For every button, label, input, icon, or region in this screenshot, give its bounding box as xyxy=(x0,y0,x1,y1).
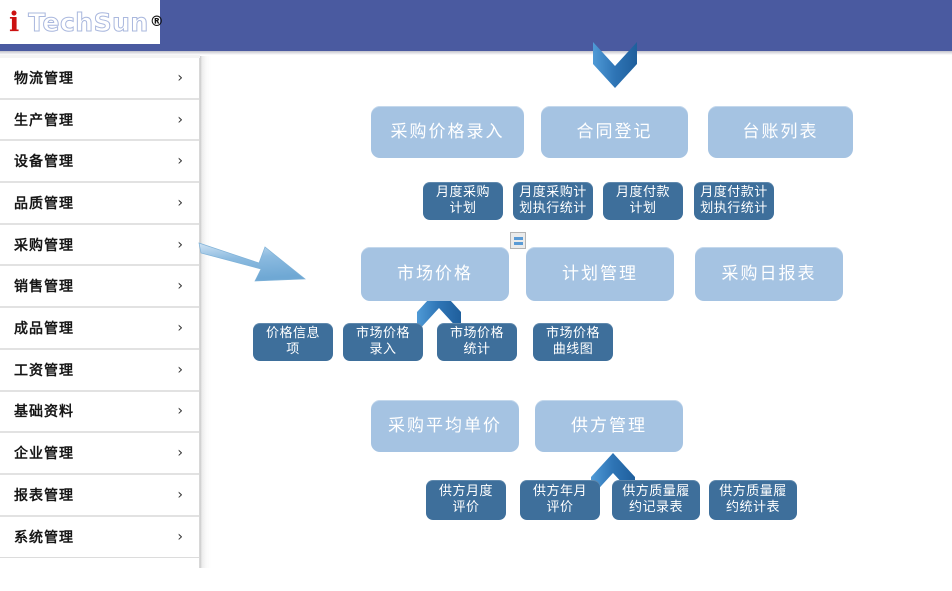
chevron-right-icon: › xyxy=(177,195,183,211)
node-market-price[interactable]: 市场价格 xyxy=(361,247,509,301)
sidebar-item-6[interactable]: 成品管理› xyxy=(0,308,199,350)
chevron-right-icon: › xyxy=(177,403,183,419)
sidebar-item-label: 系统管理 xyxy=(14,527,74,547)
sidebar-item-label: 设备管理 xyxy=(14,151,74,171)
node-supplier-quality-stats[interactable]: 供方质量履约统计表 xyxy=(709,480,797,520)
chevron-right-icon: › xyxy=(177,153,183,169)
sidebar-item-3[interactable]: 品质管理› xyxy=(0,183,199,225)
node-monthly-purchase-plan-stats[interactable]: 月度采购计划执行统计 xyxy=(513,182,593,220)
node-market-price-curve[interactable]: 市场价格曲线图 xyxy=(533,323,613,361)
node-monthly-payment-plan[interactable]: 月度付款计划 xyxy=(603,182,683,220)
sidebar-item-label: 报表管理 xyxy=(14,485,74,505)
node-supplier-yearly-eval[interactable]: 供方年月评价 xyxy=(520,480,600,520)
node-monthly-payment-plan-stats[interactable]: 月度付款计划执行统计 xyxy=(694,182,774,220)
sidebar-item-0[interactable]: 物流管理› xyxy=(0,58,199,100)
node-market-price-stats[interactable]: 市场价格统计 xyxy=(437,323,517,361)
chevron-right-icon: › xyxy=(177,445,183,461)
node-plan-management[interactable]: 计划管理 xyxy=(526,247,674,301)
application-window: i TechSun ® 物流管理›生产管理›设备管理›品质管理›采购管理›销售管… xyxy=(0,0,952,591)
sidebar-item-label: 成品管理 xyxy=(14,318,74,338)
node-market-price-entry[interactable]: 市场价格录入 xyxy=(343,323,423,361)
sidebar-divider xyxy=(200,56,211,568)
node-purchase-average-price[interactable]: 采购平均单价 xyxy=(371,400,519,452)
sidebar-item-label: 基础资料 xyxy=(14,401,74,421)
sidebar-item-label: 生产管理 xyxy=(14,110,74,130)
node-supplier-quality-record[interactable]: 供方质量履约记录表 xyxy=(612,480,700,520)
node-purchase-daily-report[interactable]: 采购日报表 xyxy=(695,247,843,301)
sidebar-item-8[interactable]: 基础资料› xyxy=(0,392,199,434)
registered-trademark-icon: ® xyxy=(150,14,164,30)
sidebar-item-9[interactable]: 企业管理› xyxy=(0,433,199,475)
app-header: i TechSun ® xyxy=(0,0,952,51)
chevron-right-icon: › xyxy=(177,487,183,503)
logo-wordmark: TechSun xyxy=(28,8,148,37)
diagram-canvas: 采购价格录入合同登记台账列表市场价格计划管理采购日报表采购平均单价供方管理月度采… xyxy=(211,55,952,591)
main-navigation-sidebar: 物流管理›生产管理›设备管理›品质管理›采购管理›销售管理›成品管理›工资管理›… xyxy=(0,58,200,568)
node-supplier-management[interactable]: 供方管理 xyxy=(535,400,683,452)
sidebar-item-label: 物流管理 xyxy=(14,68,74,88)
sidebar-item-2[interactable]: 设备管理› xyxy=(0,141,199,183)
sidebar-item-label: 销售管理 xyxy=(14,276,74,296)
sidebar-item-label: 工资管理 xyxy=(14,360,74,380)
chevron-right-icon: › xyxy=(177,237,183,253)
sidebar-item-1[interactable]: 生产管理› xyxy=(0,100,199,142)
sidebar-item-5[interactable]: 销售管理› xyxy=(0,266,199,308)
chevron-right-icon: › xyxy=(177,529,183,545)
image-placeholder-icon xyxy=(510,232,526,249)
node-contract-registration[interactable]: 合同登记 xyxy=(541,106,688,158)
node-monthly-purchase-plan[interactable]: 月度采购计划 xyxy=(423,182,503,220)
sidebar-item-label: 采购管理 xyxy=(14,235,74,255)
chevron-right-icon: › xyxy=(177,362,183,378)
brand-logo[interactable]: i TechSun ® xyxy=(0,0,160,44)
sidebar-item-7[interactable]: 工资管理› xyxy=(0,350,199,392)
node-ledger-list[interactable]: 台账列表 xyxy=(708,106,853,158)
sidebar-item-4[interactable]: 采购管理› xyxy=(0,225,199,267)
chevron-right-icon: › xyxy=(177,112,183,128)
sidebar-item-10[interactable]: 报表管理› xyxy=(0,475,199,517)
chevron-right-icon: › xyxy=(177,320,183,336)
logo-i-mark: i xyxy=(9,9,19,36)
chevron-right-icon: › xyxy=(177,70,183,86)
sidebar-item-label: 品质管理 xyxy=(14,193,74,213)
sidebar-item-label: 企业管理 xyxy=(14,443,74,463)
pointer-arrow-icon xyxy=(197,231,312,290)
node-purchase-price-entry[interactable]: 采购价格录入 xyxy=(371,106,524,158)
node-price-info-item[interactable]: 价格信息项 xyxy=(253,323,333,361)
node-supplier-monthly-eval[interactable]: 供方月度评价 xyxy=(426,480,506,520)
chevron-right-icon: › xyxy=(177,278,183,294)
sidebar-item-11[interactable]: 系统管理› xyxy=(0,517,199,559)
